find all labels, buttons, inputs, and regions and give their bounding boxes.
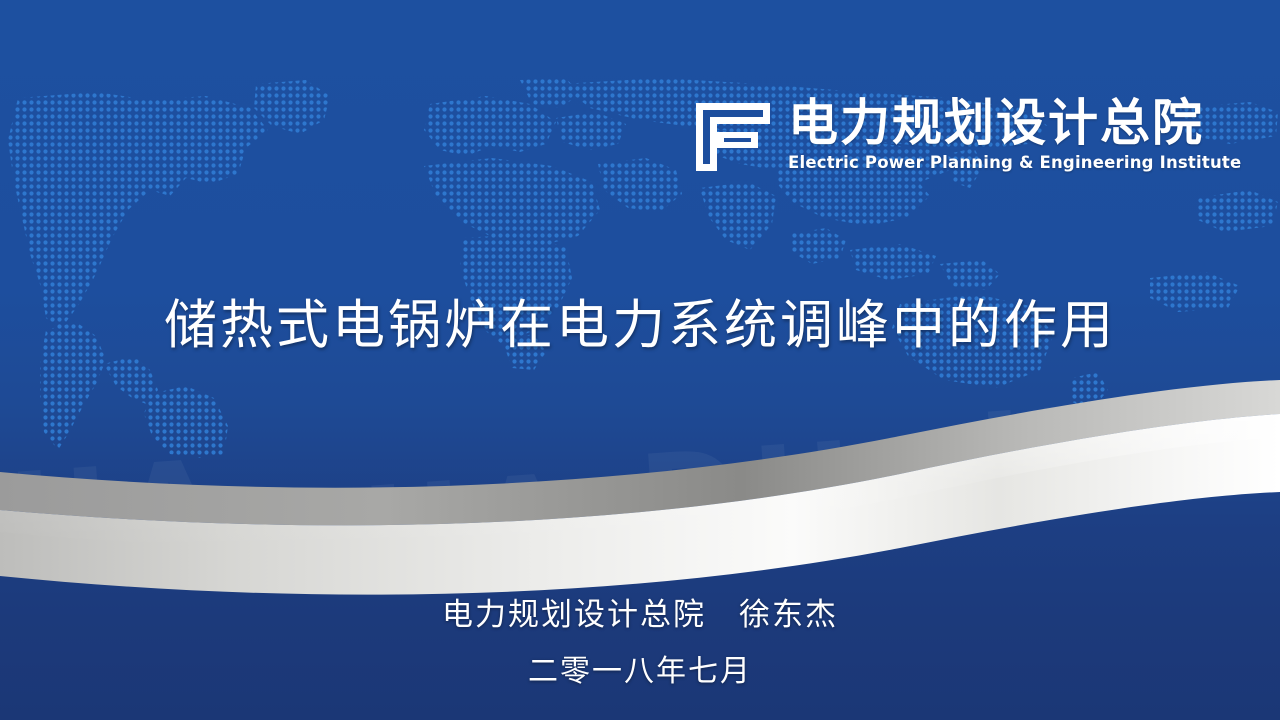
presenter-byline: 电力规划设计总院 徐东杰 [0,589,1280,634]
epei-monogram-icon [694,101,772,173]
slide-title: 储热式电锅炉在电力系统调峰中的作用 [0,283,1280,359]
title-slide: HA DHA DHA HA [0,0,1280,720]
logo-chinese-name: 电力规划设计总院 [788,97,1204,150]
logo-english-name: Electric Power Planning & Engineering In… [788,153,1241,172]
watermark-text: DHA [636,418,978,561]
watermark-text: DHA [246,458,588,601]
institute-logo: 电力规划设计总院 Electric Power Planning & Engin… [694,97,1241,173]
watermark-text: HA [976,384,1205,519]
watermark-text: HA [6,444,235,579]
presentation-date: 二零一八年七月 [0,646,1280,690]
silver-swoosh-band [0,380,1280,620]
